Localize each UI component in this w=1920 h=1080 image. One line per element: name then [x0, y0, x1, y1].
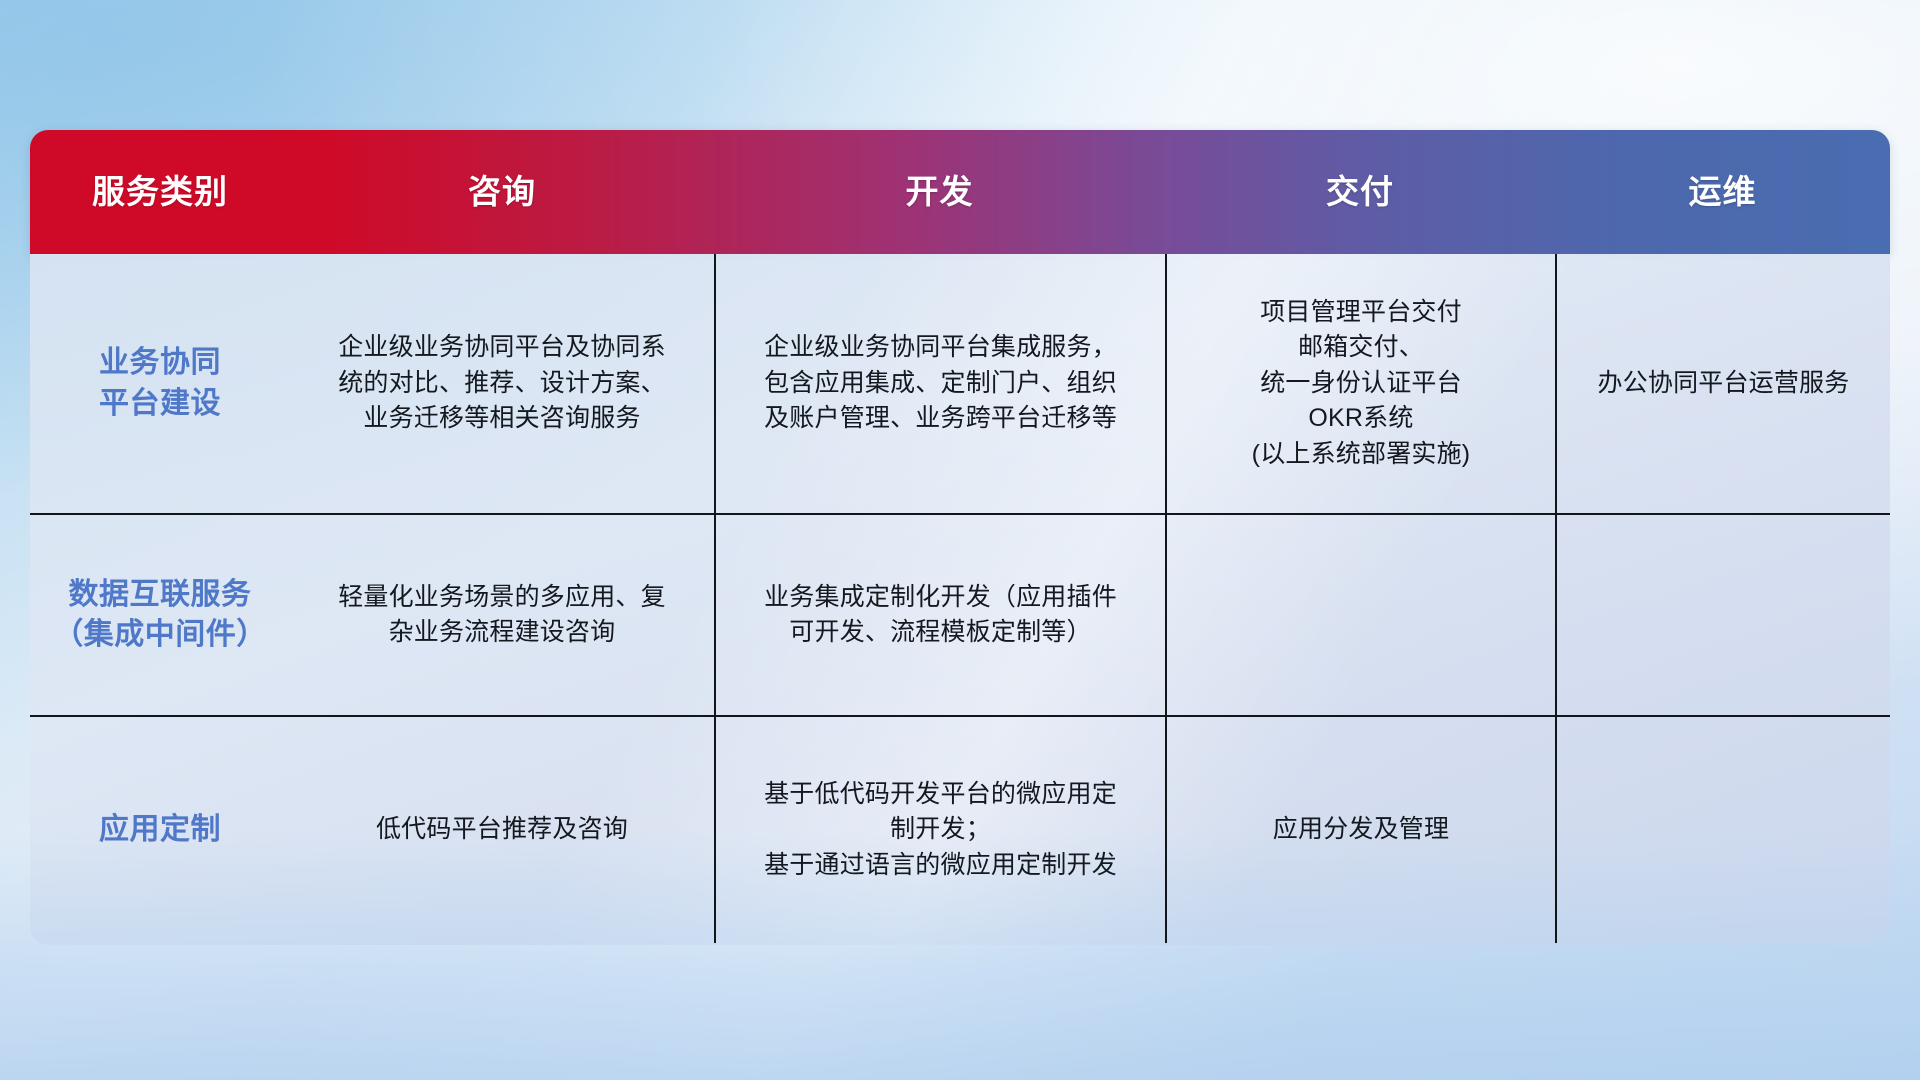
header-cell-development: 开发	[714, 174, 1165, 210]
header-label-service-category: 服务类别	[92, 173, 228, 210]
row-operations-text: 办公协同平台运营服务	[1597, 366, 1849, 402]
row-development-text: 业务集成定制化开发（应用插件 可开发、流程模板定制等）	[764, 580, 1117, 651]
table-row: 应用定制 低代码平台推荐及咨询 基于低代码开发平台的微应用定 制开发； 基于通过…	[30, 717, 1890, 943]
row-operations-cell: 办公协同平台运营服务	[1555, 254, 1890, 513]
header-label-consulting: 咨询	[468, 173, 536, 210]
table-body: 业务协同 平台建设 企业级业务协同平台及协同系 统的对比、推荐、设计方案、 业务…	[30, 254, 1890, 945]
row-operations-cell	[1555, 515, 1890, 715]
row-delivery-cell: 应用分发及管理	[1165, 717, 1555, 943]
slide-canvas: 服务类别 咨询 开发 交付 运维 业务协同 平台建设 企业级业务协同平台及协同系…	[0, 0, 1920, 1080]
row-development-text: 基于低代码开发平台的微应用定 制开发； 基于通过语言的微应用定制开发	[764, 777, 1117, 884]
row-category-cell: 应用定制	[30, 717, 290, 943]
row-category-label: 数据互联服务 （集成中间件）	[53, 575, 267, 656]
row-category-cell: 数据互联服务 （集成中间件）	[30, 515, 290, 715]
row-delivery-text: 项目管理平台交付 邮箱交付、 统一身份认证平台 OKR系统 (以上系统部署实施)	[1252, 295, 1471, 473]
row-consulting-cell: 轻量化业务场景的多应用、复 杂业务流程建设咨询	[290, 515, 714, 715]
header-label-delivery: 交付	[1326, 173, 1394, 210]
row-development-cell: 企业级业务协同平台集成服务， 包含应用集成、定制门户、组织 及账户管理、业务跨平…	[714, 254, 1165, 513]
row-operations-cell	[1555, 717, 1890, 943]
row-category-label: 应用定制	[99, 810, 221, 851]
row-consulting-text: 轻量化业务场景的多应用、复 杂业务流程建设咨询	[338, 580, 666, 651]
row-delivery-cell	[1165, 515, 1555, 715]
header-label-operations: 运维	[1689, 173, 1757, 210]
row-development-cell: 业务集成定制化开发（应用插件 可开发、流程模板定制等）	[714, 515, 1165, 715]
table-row: 业务协同 平台建设 企业级业务协同平台及协同系 统的对比、推荐、设计方案、 业务…	[30, 254, 1890, 515]
row-category-cell: 业务协同 平台建设	[30, 254, 290, 513]
service-matrix-table: 服务类别 咨询 开发 交付 运维 业务协同 平台建设 企业级业务协同平台及协同系…	[30, 130, 1890, 945]
table-row: 数据互联服务 （集成中间件） 轻量化业务场景的多应用、复 杂业务流程建设咨询 业…	[30, 515, 1890, 717]
row-development-cell: 基于低代码开发平台的微应用定 制开发； 基于通过语言的微应用定制开发	[714, 717, 1165, 943]
row-consulting-text: 低代码平台推荐及咨询	[376, 812, 628, 848]
row-consulting-text: 企业级业务协同平台及协同系 统的对比、推荐、设计方案、 业务迁移等相关咨询服务	[338, 330, 666, 437]
row-consulting-cell: 企业级业务协同平台及协同系 统的对比、推荐、设计方案、 业务迁移等相关咨询服务	[290, 254, 714, 513]
header-cell-delivery: 交付	[1165, 174, 1555, 210]
header-cell-operations: 运维	[1555, 174, 1890, 210]
header-cell-service-category: 服务类别	[30, 174, 290, 210]
table-header-row: 服务类别 咨询 开发 交付 运维	[30, 130, 1890, 254]
header-label-development: 开发	[906, 173, 974, 210]
header-cell-consulting: 咨询	[290, 174, 714, 210]
row-category-label: 业务协同 平台建设	[99, 343, 221, 424]
row-delivery-text: 应用分发及管理	[1273, 812, 1449, 848]
row-development-text: 企业级业务协同平台集成服务， 包含应用集成、定制门户、组织 及账户管理、业务跨平…	[764, 330, 1117, 437]
row-consulting-cell: 低代码平台推荐及咨询	[290, 717, 714, 943]
row-delivery-cell: 项目管理平台交付 邮箱交付、 统一身份认证平台 OKR系统 (以上系统部署实施)	[1165, 254, 1555, 513]
